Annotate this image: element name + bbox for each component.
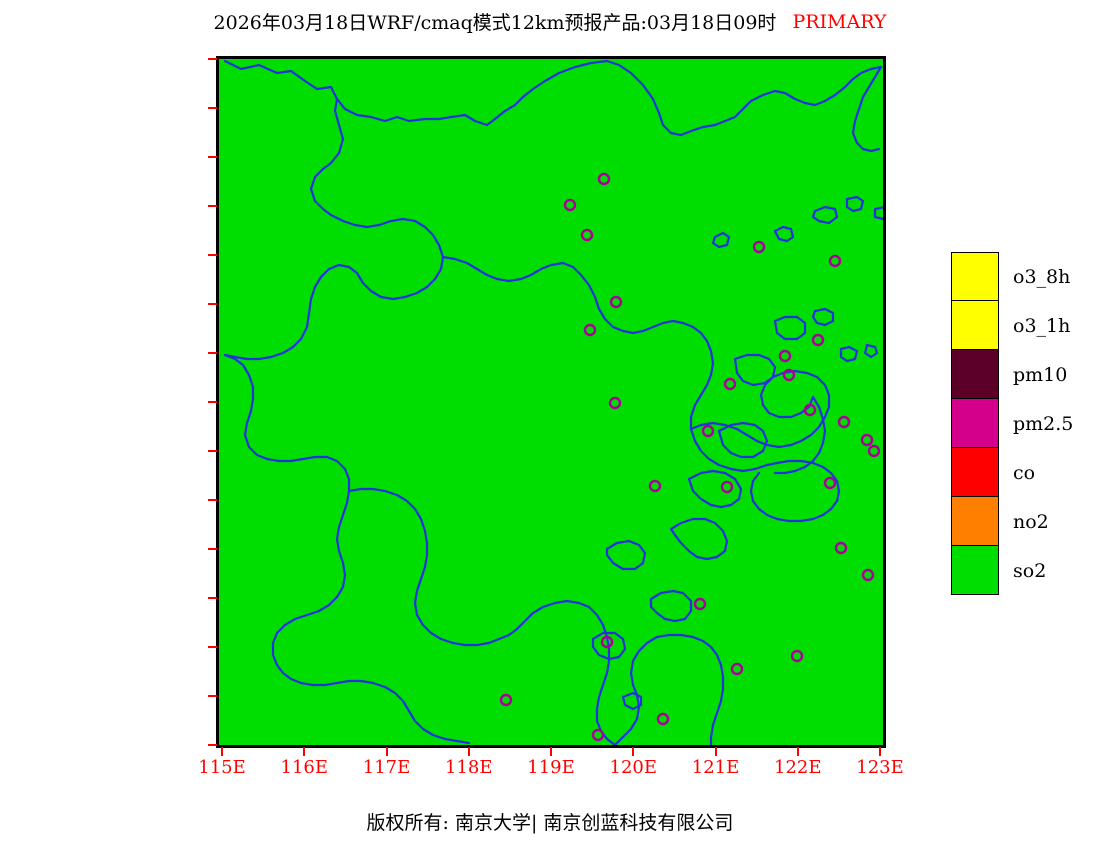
legend-item-label: pm10 (1013, 364, 1067, 386)
x-axis-tick-mark (303, 747, 305, 756)
x-axis-tick-mark (386, 747, 388, 756)
legend-color-swatch (951, 546, 999, 595)
legend-item-o3-1h[interactable]: o3_1h (951, 301, 1073, 350)
legend-item-o3-8h[interactable]: o3_8h (951, 252, 1073, 301)
x-axis-tick-mark (550, 747, 552, 756)
x-axis-tick-label: 117E (347, 759, 427, 777)
x-axis-tick-mark (468, 747, 470, 756)
x-axis-tick-mark (715, 747, 717, 756)
legend-item-label: pm2.5 (1013, 413, 1073, 435)
legend-color-swatch (951, 252, 999, 301)
legend-color-swatch (951, 497, 999, 546)
copyright-footer: 版权所有: 南京大学| 南京创蓝科技有限公司 (0, 808, 1100, 835)
legend-item-label: so2 (1013, 560, 1046, 582)
legend-item-label: no2 (1013, 511, 1049, 533)
x-axis-tick-label: 122E (758, 759, 838, 777)
legend-item-no2[interactable]: no2 (951, 497, 1073, 546)
x-axis-tick-label: 123E (840, 759, 920, 777)
legend-item-co[interactable]: co (951, 448, 1073, 497)
x-axis-tick-label: 116E (264, 759, 344, 777)
x-axis-tick-mark (632, 747, 634, 756)
x-axis-tick-mark (797, 747, 799, 756)
x-axis-tick-label: 121E (676, 759, 756, 777)
x-axis-tick-label: 120E (593, 759, 673, 777)
legend-color-swatch (951, 350, 999, 399)
x-axis-tick-mark (221, 747, 223, 756)
species-legend: o3_8ho3_1hpm10pm2.5cono2so2 (951, 252, 1073, 595)
legend-color-swatch (951, 399, 999, 448)
legend-item-label: co (1013, 462, 1035, 484)
legend-color-swatch (951, 448, 999, 497)
x-axis-tick-label: 115E (182, 759, 262, 777)
legend-item-label: o3_8h (1013, 266, 1070, 288)
legend-item-so2[interactable]: so2 (951, 546, 1073, 595)
legend-item-pm2-5[interactable]: pm2.5 (951, 399, 1073, 448)
x-axis-tick-mark (879, 747, 881, 756)
x-axis: 115E116E117E118E119E120E121E122E123E (0, 0, 1100, 850)
x-axis-tick-label: 118E (429, 759, 509, 777)
legend-item-label: o3_1h (1013, 315, 1070, 337)
legend-item-pm10[interactable]: pm10 (951, 350, 1073, 399)
x-axis-tick-label: 119E (511, 759, 591, 777)
legend-color-swatch (951, 301, 999, 350)
